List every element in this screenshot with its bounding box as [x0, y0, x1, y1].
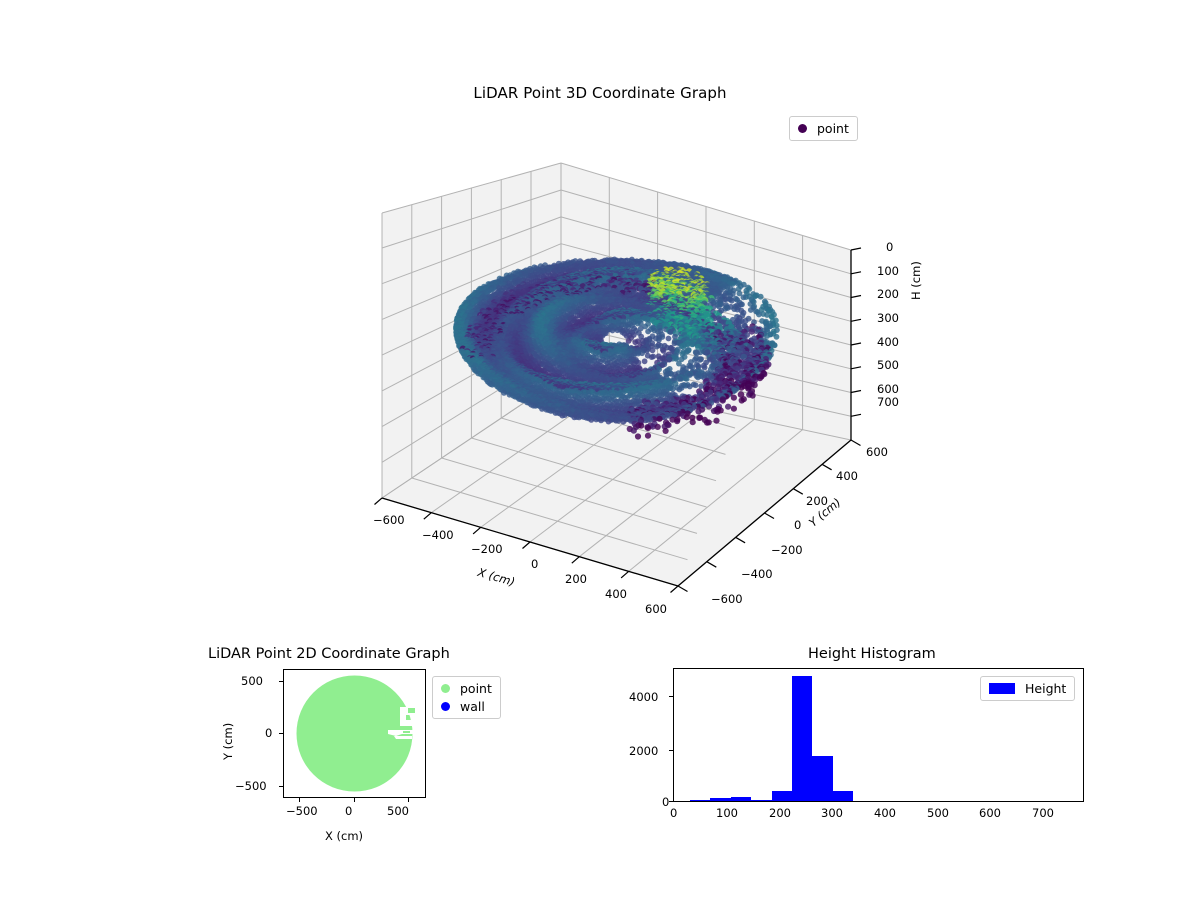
tick-3d-y-6: 600 — [866, 445, 888, 459]
tick-hist-x-3: 300 — [821, 806, 843, 820]
histogram-bar — [772, 791, 792, 801]
tick-3d-x-6: 600 — [645, 602, 667, 616]
tick-hist-x-4: 400 — [874, 806, 896, 820]
tick-hist-x-0: 0 — [670, 806, 677, 820]
height-bar-swatch-icon — [989, 683, 1015, 694]
tick-3d-x-1: −400 — [422, 528, 454, 542]
legend-hist[interactable]: Height — [980, 676, 1075, 701]
tick-3d-y-0: −600 — [711, 592, 743, 606]
point-marker-icon — [798, 124, 807, 133]
tickmark-hist-y-2 — [669, 696, 673, 697]
legend-2d-label-wall: wall — [460, 699, 485, 714]
tick-hist-y-2: 4000 — [629, 690, 658, 704]
tick-3d-x-0: −600 — [373, 513, 405, 527]
tickmark-2d-y-1 — [279, 733, 283, 734]
tick-hist-x-6: 600 — [979, 806, 1001, 820]
tick-hist-x-2: 200 — [769, 806, 791, 820]
chart-3d-axes[interactable] — [330, 150, 910, 640]
tickmark-2d-x-0 — [299, 798, 300, 802]
tick-2d-x-1: 0 — [345, 804, 352, 818]
tick-3d-z-1: 100 — [877, 264, 899, 278]
legend-2d[interactable]: point wall — [432, 676, 501, 719]
tick-3d-x-5: 400 — [605, 587, 627, 601]
legend-3d-label: point — [817, 121, 849, 136]
legend-2d-item-point: point — [441, 681, 492, 696]
tickmark-2d-y-0 — [279, 786, 283, 787]
point-marker-icon — [441, 684, 450, 693]
tickmark-hist-y-1 — [669, 750, 673, 751]
tick-3d-z-5: 500 — [877, 358, 899, 372]
axis-label-2d-x: X (cm) — [325, 829, 363, 843]
tick-2d-y-1: 0 — [265, 726, 272, 740]
histogram-bar — [710, 798, 730, 801]
tick-2d-y-0: −500 — [235, 779, 267, 793]
tick-3d-y-2: −200 — [771, 543, 803, 557]
legend-2d-item-wall: wall — [441, 699, 492, 714]
tick-3d-x-4: 200 — [565, 572, 587, 586]
tick-hist-x-5: 500 — [927, 806, 949, 820]
axis-label-3d-z: H (cm) — [909, 261, 923, 300]
figure-canvas: LiDAR Point 3D Coordinate Graph point — [0, 0, 1200, 900]
histogram-bar — [751, 800, 771, 801]
wall-marker-icon — [441, 702, 450, 711]
tick-3d-z-2: 200 — [877, 287, 899, 301]
tickmark-2d-y-2 — [279, 681, 283, 682]
tick-2d-x-0: −500 — [286, 804, 318, 818]
legend-2d-label-point: point — [460, 681, 492, 696]
tick-hist-y-1: 2000 — [629, 744, 658, 758]
histogram-bar — [690, 800, 710, 801]
chart-2d-axes[interactable] — [283, 669, 426, 798]
tick-3d-x-2: −200 — [471, 542, 503, 556]
legend-3d-item-point: point — [798, 121, 849, 136]
histogram-bar — [792, 676, 812, 801]
tick-3d-y-5: 400 — [836, 469, 858, 483]
tick-2d-y-2: 500 — [241, 674, 263, 688]
tick-3d-y-3: 0 — [794, 518, 801, 532]
chart-3d-title: LiDAR Point 3D Coordinate Graph — [0, 84, 1200, 102]
tickmark-2d-x-2 — [408, 798, 409, 802]
tick-3d-y-1: −400 — [741, 567, 773, 581]
tickmark-2d-x-1 — [354, 798, 355, 802]
tick-hist-x-7: 700 — [1032, 806, 1054, 820]
tick-3d-z-7: 700 — [877, 395, 899, 409]
chart-2d-title: LiDAR Point 2D Coordinate Graph — [208, 646, 450, 662]
tick-3d-z-4: 400 — [877, 335, 899, 349]
histogram-bar — [812, 756, 832, 801]
histogram-bar — [833, 791, 853, 801]
axis-label-2d-y: Y (cm) — [221, 723, 235, 760]
tick-3d-x-3: 0 — [531, 557, 538, 571]
legend-hist-item-height: Height — [989, 681, 1066, 696]
tick-3d-z-3: 300 — [877, 311, 899, 325]
chart-hist-title: Height Histogram — [808, 646, 936, 662]
tick-2d-x-2: 500 — [387, 804, 409, 818]
tick-hist-x-1: 100 — [716, 806, 738, 820]
tick-3d-z-0: 0 — [886, 240, 893, 254]
tick-3d-z-6: 600 — [877, 382, 899, 396]
histogram-bar — [731, 797, 751, 801]
legend-hist-label: Height — [1025, 681, 1066, 696]
legend-3d[interactable]: point — [789, 116, 858, 141]
tickmark-hist-y-0 — [669, 801, 673, 802]
